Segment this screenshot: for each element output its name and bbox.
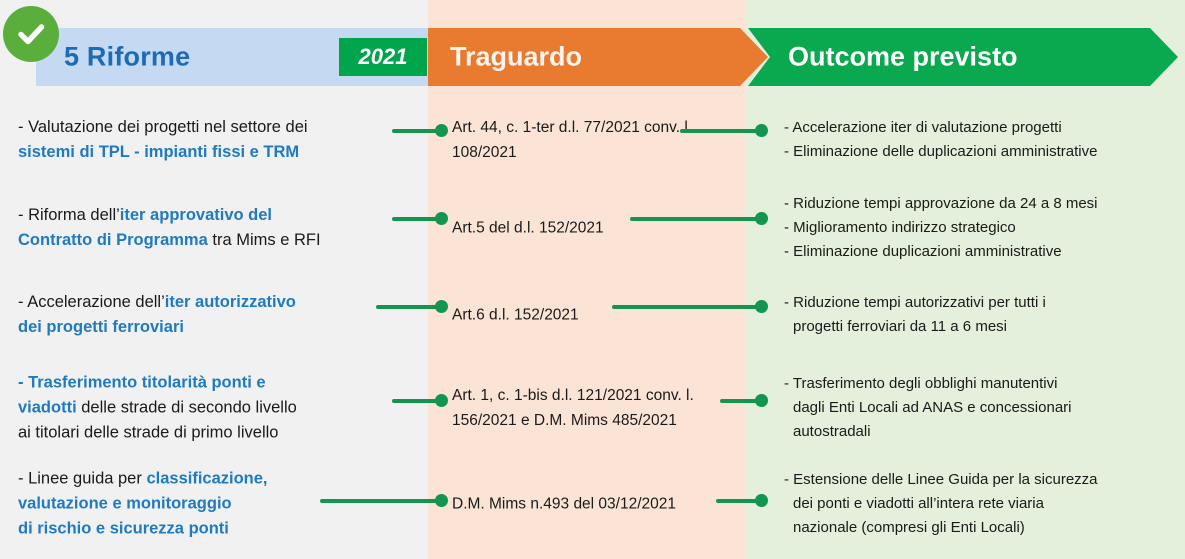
reform-text: - Accelerazione dell’iter autorizzativo … [18, 290, 410, 340]
outcome-line: - Trasferimento degli obblighi manutenti… [784, 372, 1166, 396]
reforms-header: 5 Riforme 2021 [36, 28, 428, 86]
connector-reform-to-goal [376, 300, 448, 314]
connector-goal-to-outcome [612, 300, 768, 314]
reform-highlight-3: di rischio e sicurezza ponti [18, 520, 229, 538]
outcome-line: dagli Enti Locali ad ANAS e concessionar… [784, 396, 1166, 420]
reform-plain-1: Valutazione dei progetti nel settore dei [28, 118, 307, 136]
goal-cell: Art. 1, c. 1-bis d.l. 121/2021 conv. l. … [452, 358, 728, 458]
reform-text: - Riforma dell’iter approvativo del Cont… [18, 203, 410, 253]
outcome-cell: - Trasferimento degli obblighi manutenti… [784, 358, 1166, 458]
connector-reform-to-goal [392, 212, 448, 226]
outcome-cell: - Estensione delle Linee Guida per la si… [784, 458, 1166, 550]
bullet-dash: - [18, 118, 24, 136]
outcome-line: dei ponti e viadotti all’intera rete via… [784, 492, 1166, 516]
outcome-header-label: Outcome previsto [788, 42, 1018, 73]
outcome-cell: - Riduzione tempi approvazione da 24 a 8… [784, 184, 1166, 272]
bullet-dash: - [18, 293, 24, 311]
goal-cell: D.M. Mims n.493 del 03/12/2021 [452, 458, 728, 550]
outcome-line: - Eliminazione duplicazioni amministrati… [784, 240, 1166, 264]
outcome-line: autostradali [784, 420, 1166, 444]
goal-cell: Art.5 del d.l. 152/2021 [452, 184, 728, 272]
outcome-cell: - Accelerazione iter di valutazione prog… [784, 96, 1166, 184]
outcome-line: - Eliminazione delle duplicazioni ammini… [784, 140, 1166, 164]
reform-text: - Trasferimento titolarità ponti e viado… [18, 371, 410, 446]
year-badge: 2021 [339, 38, 427, 76]
outcome-cell: - Riduzione tempi autorizzativi per tutt… [784, 272, 1166, 358]
reform-text: - Valutazione dei progetti nel settore d… [18, 115, 410, 165]
bullet-dash: - [18, 206, 24, 224]
table-row: - Trasferimento titolarità ponti e viado… [0, 358, 1185, 458]
reform-table-slide: 5 Riforme 2021 Traguardo Outcome previst… [0, 0, 1185, 559]
reform-plain-1: Linee guida per [28, 470, 146, 488]
connector-goal-to-outcome [720, 394, 768, 408]
reform-plain-2: delle strade di secondo livello [77, 399, 297, 417]
connector-goal-to-outcome [680, 124, 768, 138]
connector-reform-to-goal [392, 394, 448, 408]
goal-header-label: Traguardo [450, 42, 582, 73]
reform-cell: - Trasferimento titolarità ponti e viado… [18, 358, 410, 458]
goal-cell: Art.6 d.l. 152/2021 [452, 272, 728, 358]
outcome-line: - Riduzione tempi approvazione da 24 a 8… [784, 192, 1166, 216]
reform-highlight-1: classificazione, [146, 470, 267, 488]
goal-text: D.M. Mims n.493 del 03/12/2021 [452, 492, 728, 517]
reform-cell: - Valutazione dei progetti nel settore d… [18, 96, 410, 184]
connector-reform-to-goal [320, 494, 448, 508]
bullet-dash: - [18, 374, 24, 392]
reforms-header-label: 5 Riforme [64, 42, 190, 73]
outcome-line: - Miglioramento indirizzo strategico [784, 216, 1166, 240]
reform-highlight-2: Contratto di Programma [18, 231, 208, 249]
reform-cell: - Accelerazione dell’iter autorizzativo … [18, 272, 410, 358]
connector-goal-to-outcome [630, 212, 768, 226]
outcome-line: progetti ferroviari da 11 a 6 mesi [784, 315, 1166, 339]
outcome-header: Outcome previsto [748, 28, 1178, 86]
reform-cell: - Riforma dell’iter approvativo del Cont… [18, 184, 410, 272]
goal-text: Art. 1, c. 1-bis d.l. 121/2021 conv. l. … [452, 383, 728, 433]
reform-highlight-2: valutazione e monitoraggio [18, 495, 232, 513]
connector-reform-to-goal [392, 124, 448, 138]
reform-plain-1: Riforma dell’ [28, 206, 120, 224]
check-circle-icon [3, 6, 59, 62]
header-row: 5 Riforme 2021 Traguardo Outcome previst… [0, 28, 1185, 86]
reform-highlight-1: Trasferimento titolarità ponti e [28, 374, 265, 392]
reform-highlight-2: sistemi di TPL - impianti fissi e TRM [18, 143, 299, 161]
reform-highlight-1: iter autorizzativo [165, 293, 296, 311]
year-label: 2021 [359, 44, 408, 70]
reform-highlight-2: viadotti [18, 399, 77, 417]
goal-text: Art. 44, c. 1-ter d.l. 77/2021 conv. l. … [452, 115, 728, 165]
outcome-line: - Accelerazione iter di valutazione prog… [784, 116, 1166, 140]
goal-header: Traguardo [428, 28, 768, 86]
bullet-dash: - [18, 470, 24, 488]
connector-goal-to-outcome [716, 494, 768, 508]
reform-highlight-1: iter approvativo del [120, 206, 272, 224]
reform-plain-3: ai titolari delle strade di primo livell… [18, 424, 278, 442]
reform-cell: - Linee guida per classificazione, valut… [18, 458, 410, 550]
table-row: - Riforma dell’iter approvativo del Cont… [0, 184, 1185, 272]
outcome-line: - Estensione delle Linee Guida per la si… [784, 468, 1166, 492]
reform-plain-2: tra Mims e RFI [208, 231, 321, 249]
table-row: - Accelerazione dell’iter autorizzativo … [0, 272, 1185, 358]
outcome-line: nazionale (compresi gli Enti Locali) [784, 516, 1166, 540]
reform-plain-1: Accelerazione dell’ [27, 293, 165, 311]
table-row: - Linee guida per classificazione, valut… [0, 458, 1185, 550]
table-row: - Valutazione dei progetti nel settore d… [0, 96, 1185, 184]
goal-cell: Art. 44, c. 1-ter d.l. 77/2021 conv. l. … [452, 96, 728, 184]
outcome-line: - Riduzione tempi autorizzativi per tutt… [784, 291, 1166, 315]
reform-highlight-2: dei progetti ferroviari [18, 318, 184, 336]
